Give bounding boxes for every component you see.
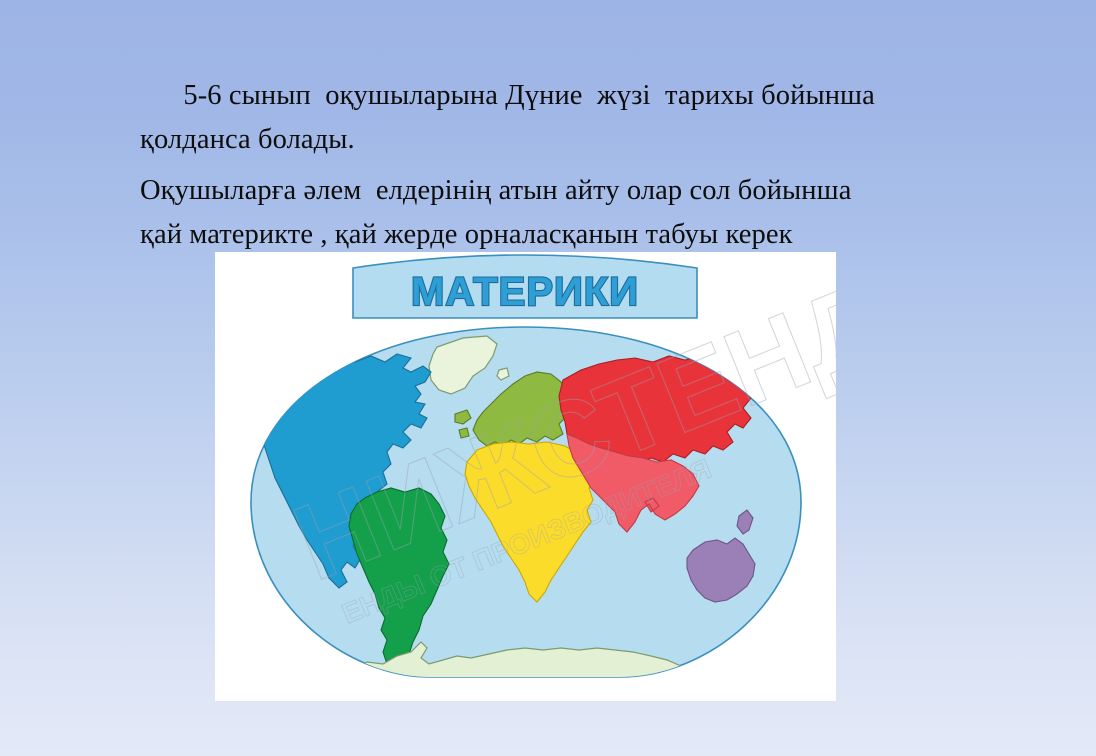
- map-image-card: МАТЕРИКИ: [215, 252, 836, 701]
- map-title-text: МАТЕРИКИ: [411, 270, 639, 314]
- text-line-3: Оқушыларға әлем елдерінің атын айту олар…: [140, 169, 1000, 213]
- slide-text-block: 5-6 сынып оқушыларына Дүние жүзі тарихы …: [140, 74, 1000, 257]
- map-title-banner: МАТЕРИКИ: [353, 255, 697, 318]
- world-map-illustration: МАТЕРИКИ: [215, 252, 836, 701]
- paragraph-gap: [140, 162, 1000, 169]
- text-line-2: қолданса болады.: [140, 118, 1000, 162]
- text-line-1: 5-6 сынып оқушыларына Дүние жүзі тарихы …: [140, 74, 1000, 118]
- text-line-4: қай материкте , қай жерде орналасқанын т…: [140, 213, 1000, 257]
- slide-canvas: 5-6 сынып оқушыларына Дүние жүзі тарихы …: [0, 0, 1096, 756]
